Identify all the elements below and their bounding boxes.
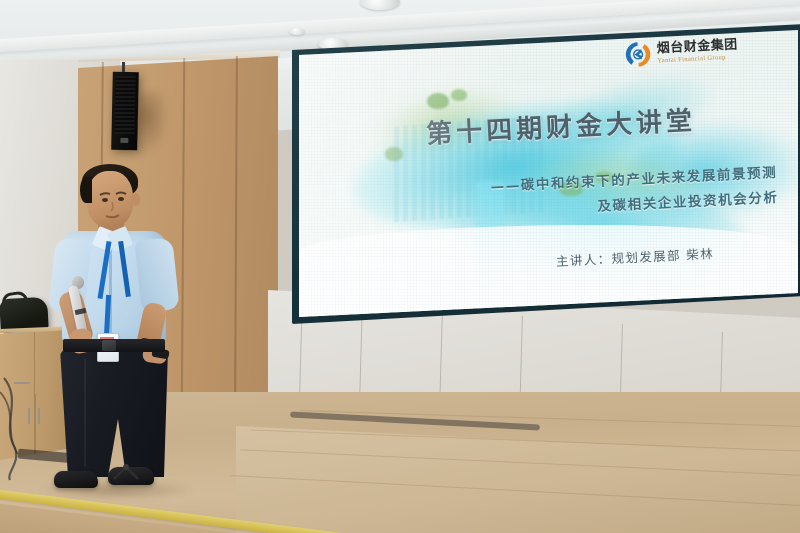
screen-glare — [299, 29, 573, 317]
projection-screen[interactable]: 烟台财金集团 Yantai Financial Group 第十四期财金大讲堂 … — [299, 29, 798, 317]
microphone-stand-base — [112, 463, 140, 485]
shirt-sleeve-right — [134, 237, 179, 313]
trousers — [60, 349, 168, 477]
speaker-grill — [115, 76, 136, 134]
ceiling-downlight-icon — [289, 28, 305, 35]
speaker-shadow — [136, 92, 168, 154]
wall-speaker-icon — [111, 72, 139, 151]
speaker-logo — [120, 138, 128, 143]
trouser-crease — [84, 359, 86, 467]
presenter-person — [40, 163, 185, 503]
belt-buckle — [102, 340, 116, 351]
shoe-left — [54, 471, 98, 488]
conference-room-photo: 烟台财金集团 Yantai Financial Group 第十四期财金大讲堂 … — [0, 0, 800, 533]
face-features — [87, 171, 139, 231]
